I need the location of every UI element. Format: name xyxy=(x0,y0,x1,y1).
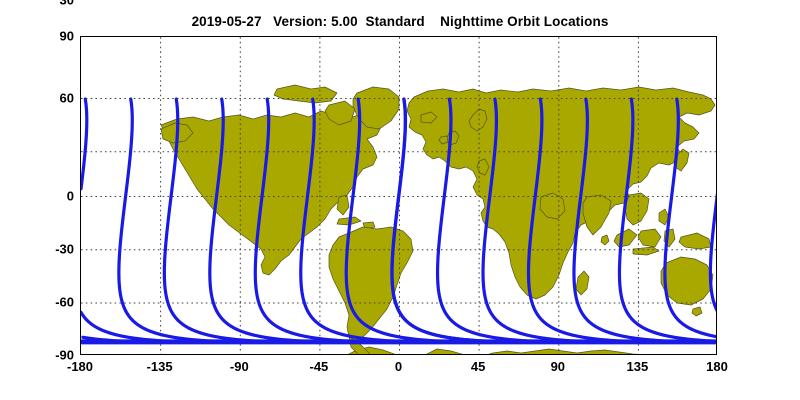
world-map-svg xyxy=(81,37,717,355)
land-florida xyxy=(337,195,349,215)
x-tick-label-0: 0 xyxy=(369,359,429,374)
y-tick-label-m30: -30 xyxy=(32,241,74,256)
land-sumatra xyxy=(614,229,637,247)
y-tick-label-0: 0 xyxy=(32,188,74,203)
land-borneo xyxy=(638,229,661,247)
land-antarctica xyxy=(81,347,717,355)
x-tick-label-135: 135 xyxy=(607,359,667,374)
y-tick-label-30: 30 xyxy=(32,0,74,8)
land-java xyxy=(633,247,659,255)
land-sri-lanka xyxy=(601,235,609,245)
orbit-track xyxy=(710,189,717,311)
y-tick-label-m60: -60 xyxy=(32,295,74,310)
land-india xyxy=(583,195,611,235)
y-tick-label-60: 60 xyxy=(32,90,74,105)
land-tasmania xyxy=(692,307,702,316)
x-tick-label-180: 180 xyxy=(687,359,747,374)
page-title: 2019-05-27 Version: 5.00 Standard Nightt… xyxy=(0,14,800,29)
x-tick-label-m180: -180 xyxy=(50,359,110,374)
land-south-america xyxy=(329,227,413,341)
x-tick-label-90: 90 xyxy=(528,359,588,374)
x-tick-label-45: 45 xyxy=(448,359,508,374)
orbit-map-figure: 2019-05-27 Version: 5.00 Standard Nightt… xyxy=(0,0,800,400)
land-madagascar xyxy=(576,271,589,295)
plot-area xyxy=(80,36,717,355)
land-arctic-islands xyxy=(274,85,337,103)
x-tick-label-m45: -45 xyxy=(289,359,349,374)
land-new-guinea xyxy=(679,233,711,249)
orbit-track xyxy=(81,99,87,189)
land-indochina xyxy=(625,193,649,225)
y-tick-label-90: 90 xyxy=(32,29,74,44)
x-tick-label-m90: -90 xyxy=(209,359,269,374)
x-tick-label-m135: -135 xyxy=(130,359,190,374)
